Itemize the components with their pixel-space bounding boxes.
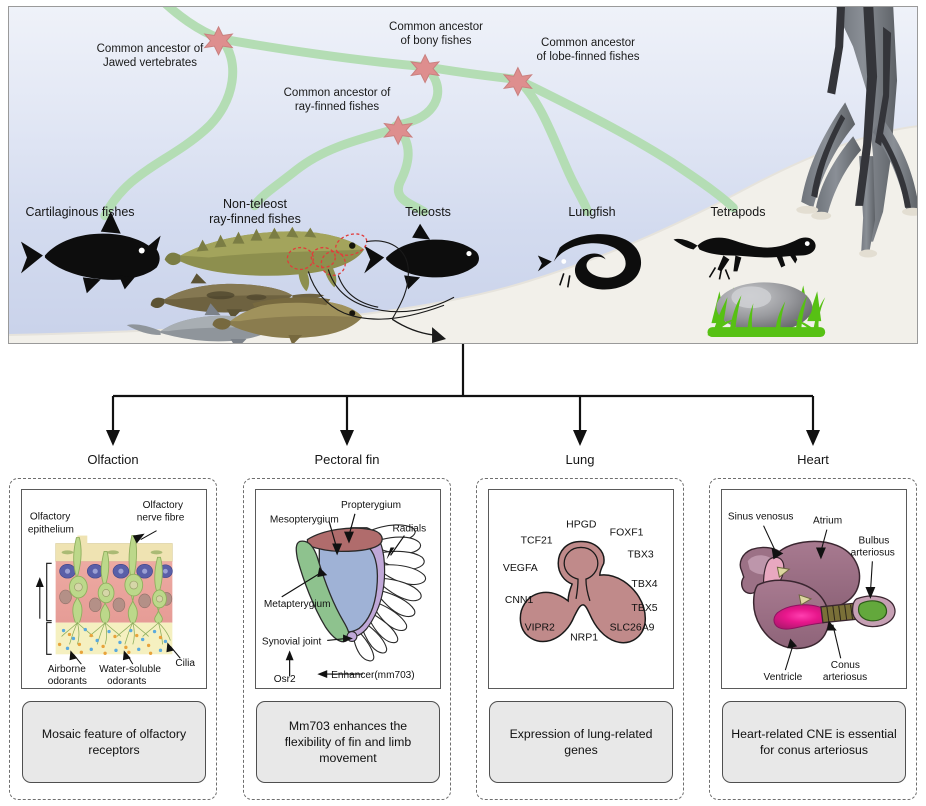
panel-label-heart: Heart xyxy=(753,452,873,467)
anno-cilia: Cilia xyxy=(175,658,195,669)
anno-radials: Radials xyxy=(393,524,427,535)
olfaction-diagram: Olfactory epithelium Olfactory nerve fib… xyxy=(21,489,207,689)
anno-airborne-line2: odorants xyxy=(48,676,87,687)
taxon-label-lungfish: Lungfish xyxy=(537,205,647,220)
anno-mesopterygium: Mesopterygium xyxy=(270,515,339,526)
ancestor-label-rayfinned-line1: Common ancestor of xyxy=(284,87,391,99)
panel-label-olfaction: Olfaction xyxy=(53,452,173,467)
ancestor-label-rayfinned: Common ancestor of ray-finned fishes xyxy=(257,87,417,114)
anno-conus-line1: Conus xyxy=(831,660,860,671)
anno-bulbus-line1: Bulbus xyxy=(859,535,890,546)
anno-atrium: Atrium xyxy=(813,516,842,527)
arrowhead-olfaction xyxy=(106,430,120,446)
arrowhead-pectoral xyxy=(340,430,354,446)
phylogeny-panel: Common ancestor of Jawed vertebrates Com… xyxy=(8,6,918,344)
gene-TBX5: TBX5 xyxy=(631,603,657,614)
epithelium-bracket xyxy=(40,563,52,654)
ancestor-label-jawed-line2: Jawed vertebrates xyxy=(103,57,197,69)
olfactory-epithelium-svg: Olfactory epithelium Olfactory nerve fib… xyxy=(22,490,206,688)
panel-heart: Sinus venosus Atrium Bulbus arteriosus V… xyxy=(709,478,917,800)
arrow-enhancer-left xyxy=(317,670,327,678)
anno-sinus-venosus: Sinus venosus xyxy=(728,512,794,523)
anno-olfactory-nerve-line1: Olfactory xyxy=(143,500,184,511)
caption-olfaction: Mosaic feature of olfactory receptors xyxy=(22,701,206,783)
ancestor-label-lobe-line1: Common ancestor xyxy=(541,37,635,49)
anno-osr2: Osr2 xyxy=(274,674,296,685)
anno-enhancer: Enhancer(mm703) xyxy=(331,670,414,681)
anno-synovial-joint: Synovial joint xyxy=(262,636,322,647)
caption-pectoral-fin: Mm703 enhances the flexibility of fin an… xyxy=(256,701,440,783)
panel-olfaction: Olfactory epithelium Olfactory nerve fib… xyxy=(9,478,217,800)
caption-heart: Heart-related CNE is essential for conus… xyxy=(722,701,906,783)
ancestor-label-lobe-line2: of lobe-finned fishes xyxy=(537,51,640,63)
panel-label-pectoral-fin: Pectoral fin xyxy=(287,452,407,467)
ancestor-label-lobe: Common ancestor of lobe-finned fishes xyxy=(513,37,663,64)
gene-TBX4: TBX4 xyxy=(631,579,657,590)
arrowhead-heart xyxy=(806,430,820,446)
taxon-label-cartilaginous: Cartilaginous fishes xyxy=(9,205,151,220)
caption-lung: Expression of lung-related genes xyxy=(489,701,673,783)
taxon-label-cartilaginous-line1: Cartilaginous fishes xyxy=(25,205,134,219)
anno-propterygium: Propterygium xyxy=(341,500,401,511)
anno-watersoluble-line2: odorants xyxy=(107,676,146,687)
pectoral-fin-diagram: Propterygium Mesopterygium Radials Metap… xyxy=(255,489,441,689)
taxon-label-tetrapods-line1: Tetrapods xyxy=(711,205,766,219)
gene-VEGFA: VEGFA xyxy=(503,563,538,574)
anno-watersoluble-line1: Water-soluble xyxy=(99,664,161,675)
gene-TBX3: TBX3 xyxy=(627,549,653,560)
anno-olfactory-epithelium-line2: epithelium xyxy=(28,525,74,536)
lung-diagram: HPGD FOXF1 TCF21 TBX3 VEGFA TBX4 CNN1 TB… xyxy=(488,489,674,689)
taxon-label-nonteleost: Non-teleost ray-finned fishes xyxy=(187,197,323,226)
anno-bulbus-line2: arteriosus xyxy=(851,547,895,558)
heart-diagram: Sinus venosus Atrium Bulbus arteriosus V… xyxy=(721,489,907,689)
ancestor-label-bony-line1: Common ancestor xyxy=(389,21,483,33)
anno-olfactory-epithelium-line1: Olfactory xyxy=(30,512,71,523)
taxon-label-nonteleost-line1: Non-teleost xyxy=(223,197,287,211)
taxon-label-teleosts: Teleosts xyxy=(373,205,483,220)
gene-NRP1: NRP1 xyxy=(570,632,598,643)
panel-lung: HPGD FOXF1 TCF21 TBX3 VEGFA TBX4 CNN1 TB… xyxy=(476,478,684,800)
ancestor-label-jawed: Common ancestor of Jawed vertebrates xyxy=(75,43,225,70)
epithelium-arrowhead xyxy=(36,577,44,587)
gene-TCF21: TCF21 xyxy=(521,535,553,546)
gene-CNN1: CNN1 xyxy=(505,595,534,606)
taxon-label-tetrapods: Tetrapods xyxy=(683,205,793,220)
gene-SLC26A9: SLC26A9 xyxy=(610,623,655,634)
lung-svg: HPGD FOXF1 TCF21 TBX3 VEGFA TBX4 CNN1 TB… xyxy=(489,490,673,688)
taxon-label-nonteleost-line2: ray-finned fishes xyxy=(209,212,301,226)
bulbus-arteriosus-core xyxy=(859,601,887,621)
taxon-label-teleosts-line1: Teleosts xyxy=(405,205,451,219)
pectoral-fin-svg: Propterygium Mesopterygium Radials Metap… xyxy=(256,490,440,688)
mesopterygium xyxy=(307,528,382,551)
anno-metapterygium: Metapterygium xyxy=(264,599,331,610)
taxon-label-lungfish-line1: Lungfish xyxy=(568,205,615,219)
panel-pectoral-fin: Propterygium Mesopterygium Radials Metap… xyxy=(243,478,451,800)
anno-olfactory-nerve-line2: nerve fibre xyxy=(137,513,185,524)
arrow-osr2-up xyxy=(286,650,294,660)
gene-FOXF1: FOXF1 xyxy=(610,528,644,539)
arrowhead-lung xyxy=(573,430,587,446)
gene-VIPR2: VIPR2 xyxy=(525,623,555,634)
panel-connector-tree xyxy=(0,344,926,454)
ancestor-label-jawed-line1: Common ancestor of xyxy=(97,43,204,55)
gene-HPGD: HPGD xyxy=(566,520,597,531)
ancestor-label-rayfinned-line2: ray-finned fishes xyxy=(295,101,379,113)
anno-ventricle: Ventricle xyxy=(764,672,803,683)
anno-airborne-line1: Airborne xyxy=(48,664,86,675)
anno-conus-line2: arteriosus xyxy=(823,672,867,683)
ancestor-label-bony-line2: of bony fishes xyxy=(401,35,472,47)
panel-label-lung: Lung xyxy=(520,452,640,467)
ancestor-label-bony: Common ancestor of bony fishes xyxy=(371,21,501,48)
heart-svg: Sinus venosus Atrium Bulbus arteriosus V… xyxy=(722,490,906,688)
